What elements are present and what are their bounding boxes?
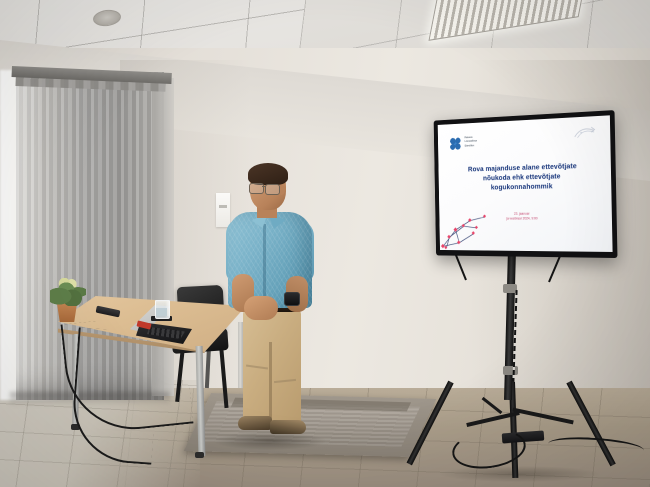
- slide-title-line-3: kogukonnahommik: [455, 181, 593, 193]
- presenter-trouser-seam: [269, 342, 272, 424]
- organisation-logo-text: Rakvere Linnavalitsus Ettevõtlus: [465, 136, 478, 148]
- presenter-shirt-placket: [263, 224, 266, 302]
- presenter-shoe-left: [238, 416, 272, 430]
- logo-line-3: Ettevõtlus: [465, 145, 477, 148]
- organisation-logo-icon: [449, 137, 461, 151]
- presenter-hair: [248, 163, 288, 185]
- photo-scene: Rakvere Linnavalitsus Ettevõtlus Rova ma…: [0, 0, 650, 487]
- wrist-watch-icon: [284, 292, 300, 306]
- presenter: [222, 166, 318, 444]
- eyeglasses-icon: [249, 183, 281, 193]
- tv-screen[interactable]: Rakvere Linnavalitsus Ettevõtlus Rova ma…: [438, 115, 613, 252]
- eyeglasses-lens-left: [249, 183, 264, 194]
- presenter-shoe-right: [270, 420, 306, 434]
- slide-title: Rova majanduse alane ettevõtjate nõukoda…: [454, 161, 592, 193]
- secondary-logo-icon: [573, 125, 599, 140]
- eyeglasses-bridge: [262, 186, 266, 187]
- potted-plant-icon: [50, 278, 86, 306]
- eyeglasses-lens-right: [265, 184, 280, 195]
- tv-stand-clamp: [503, 366, 518, 375]
- table-foot: [195, 452, 204, 458]
- slide-network-graphic: [439, 206, 492, 251]
- slide-organisation-logo: Rakvere Linnavalitsus Ettevõtlus: [449, 136, 477, 151]
- tv-stand-floor-shadow: [440, 466, 600, 482]
- presenter-hands: [244, 296, 278, 320]
- presentation-display[interactable]: Rakvere Linnavalitsus Ettevõtlus Rova ma…: [434, 110, 618, 258]
